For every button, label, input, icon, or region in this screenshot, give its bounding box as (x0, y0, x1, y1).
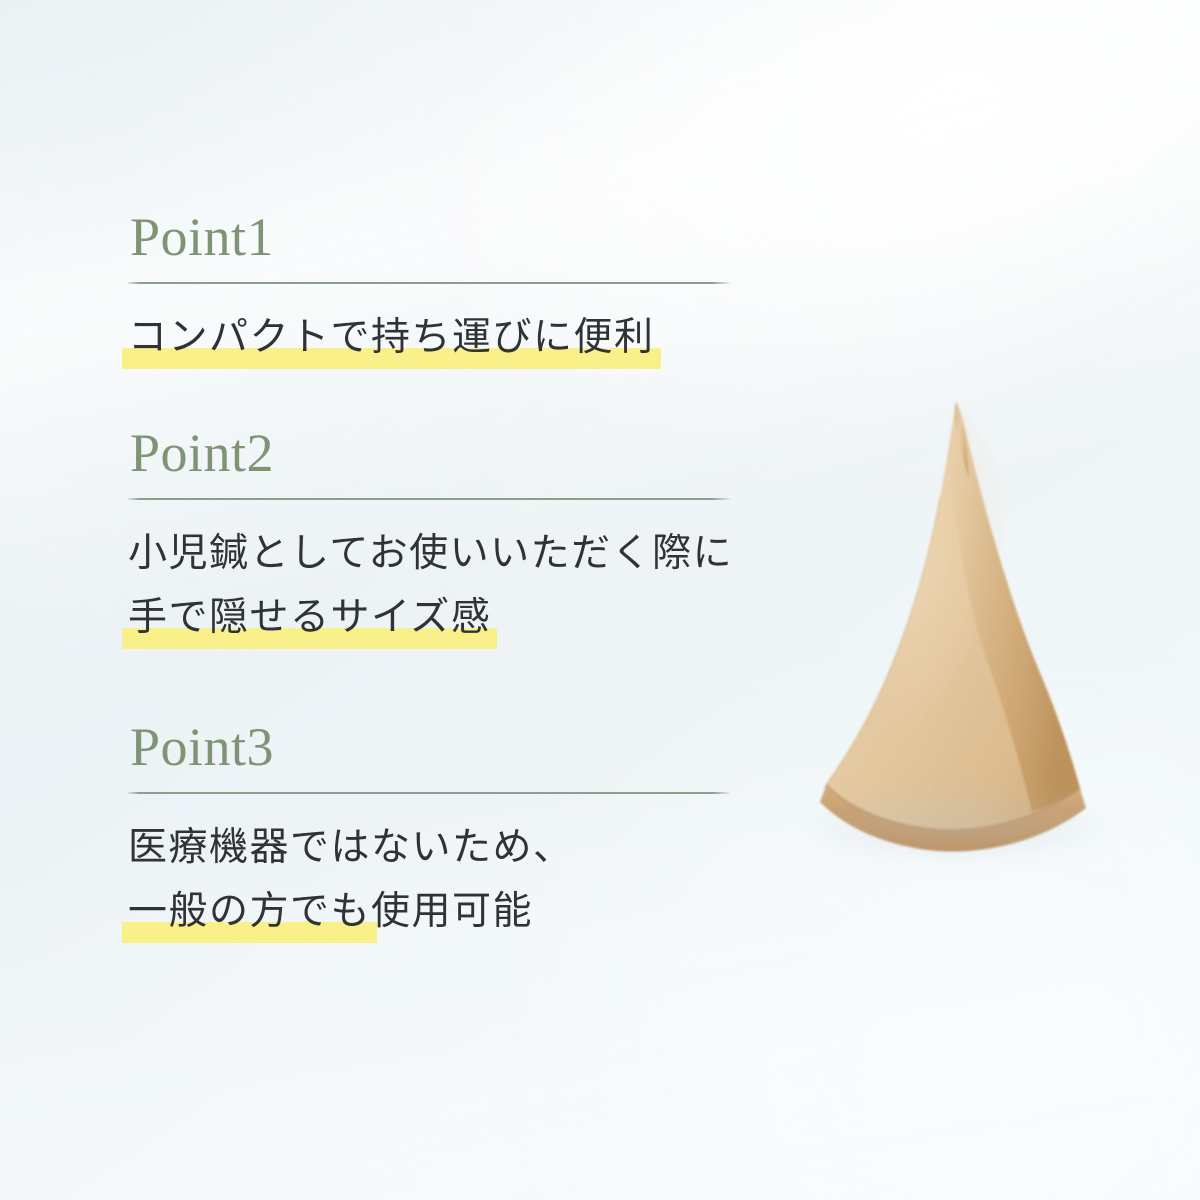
product-drop-shadow (808, 790, 1108, 860)
point-divider-3 (128, 792, 730, 794)
highlighted-text: 一般の方でも (128, 880, 371, 944)
point-body-2: 小児鍼としてお使いいただく際に 手で隠せるサイズ感 (128, 522, 748, 650)
point-body-3: 医療機器ではないため、 一般の方でも使用可能 (128, 816, 748, 944)
point-3-line-2: 一般の方でも使用可能 (128, 880, 533, 944)
promo-canvas: Point1 コンパクトで持ち運びに便利 Point2 小児鍼としてお使いいただ… (0, 0, 1200, 1200)
point-2-line-2: 手で隠せるサイズ感 (128, 586, 491, 650)
product-image (770, 370, 1140, 880)
point-1-line-1: コンパクトで持ち運びに便利 (128, 306, 655, 370)
point-divider-2 (128, 498, 730, 500)
point-block-2: Point2 小児鍼としてお使いいただく際に 手で隠せるサイズ感 (128, 422, 748, 650)
plain-text: 使用可能 (371, 890, 533, 933)
highlighted-text: コンパクトで持ち運びに便利 (128, 306, 655, 370)
point-2-line-1: 小児鍼としてお使いいただく際に (128, 522, 733, 586)
point-title-2: Point2 (128, 422, 748, 484)
highlighted-text: 手で隠せるサイズ感 (128, 586, 491, 650)
point-3-line-1: 医療機器ではないため、 (128, 816, 574, 880)
point-block-1: Point1 コンパクトで持ち運びに便利 (128, 206, 748, 370)
point-body-1: コンパクトで持ち運びに便利 (128, 306, 748, 370)
point-divider-1 (128, 282, 730, 284)
point-title-1: Point1 (128, 206, 748, 268)
plain-text: 小児鍼としてお使いいただく際に (128, 532, 733, 575)
points-column: Point1 コンパクトで持ち運びに便利 Point2 小児鍼としてお使いいただ… (128, 0, 748, 1200)
plain-text: 医療機器ではないため、 (128, 826, 574, 869)
point-block-3: Point3 医療機器ではないため、 一般の方でも使用可能 (128, 716, 748, 944)
point-title-3: Point3 (128, 716, 748, 778)
